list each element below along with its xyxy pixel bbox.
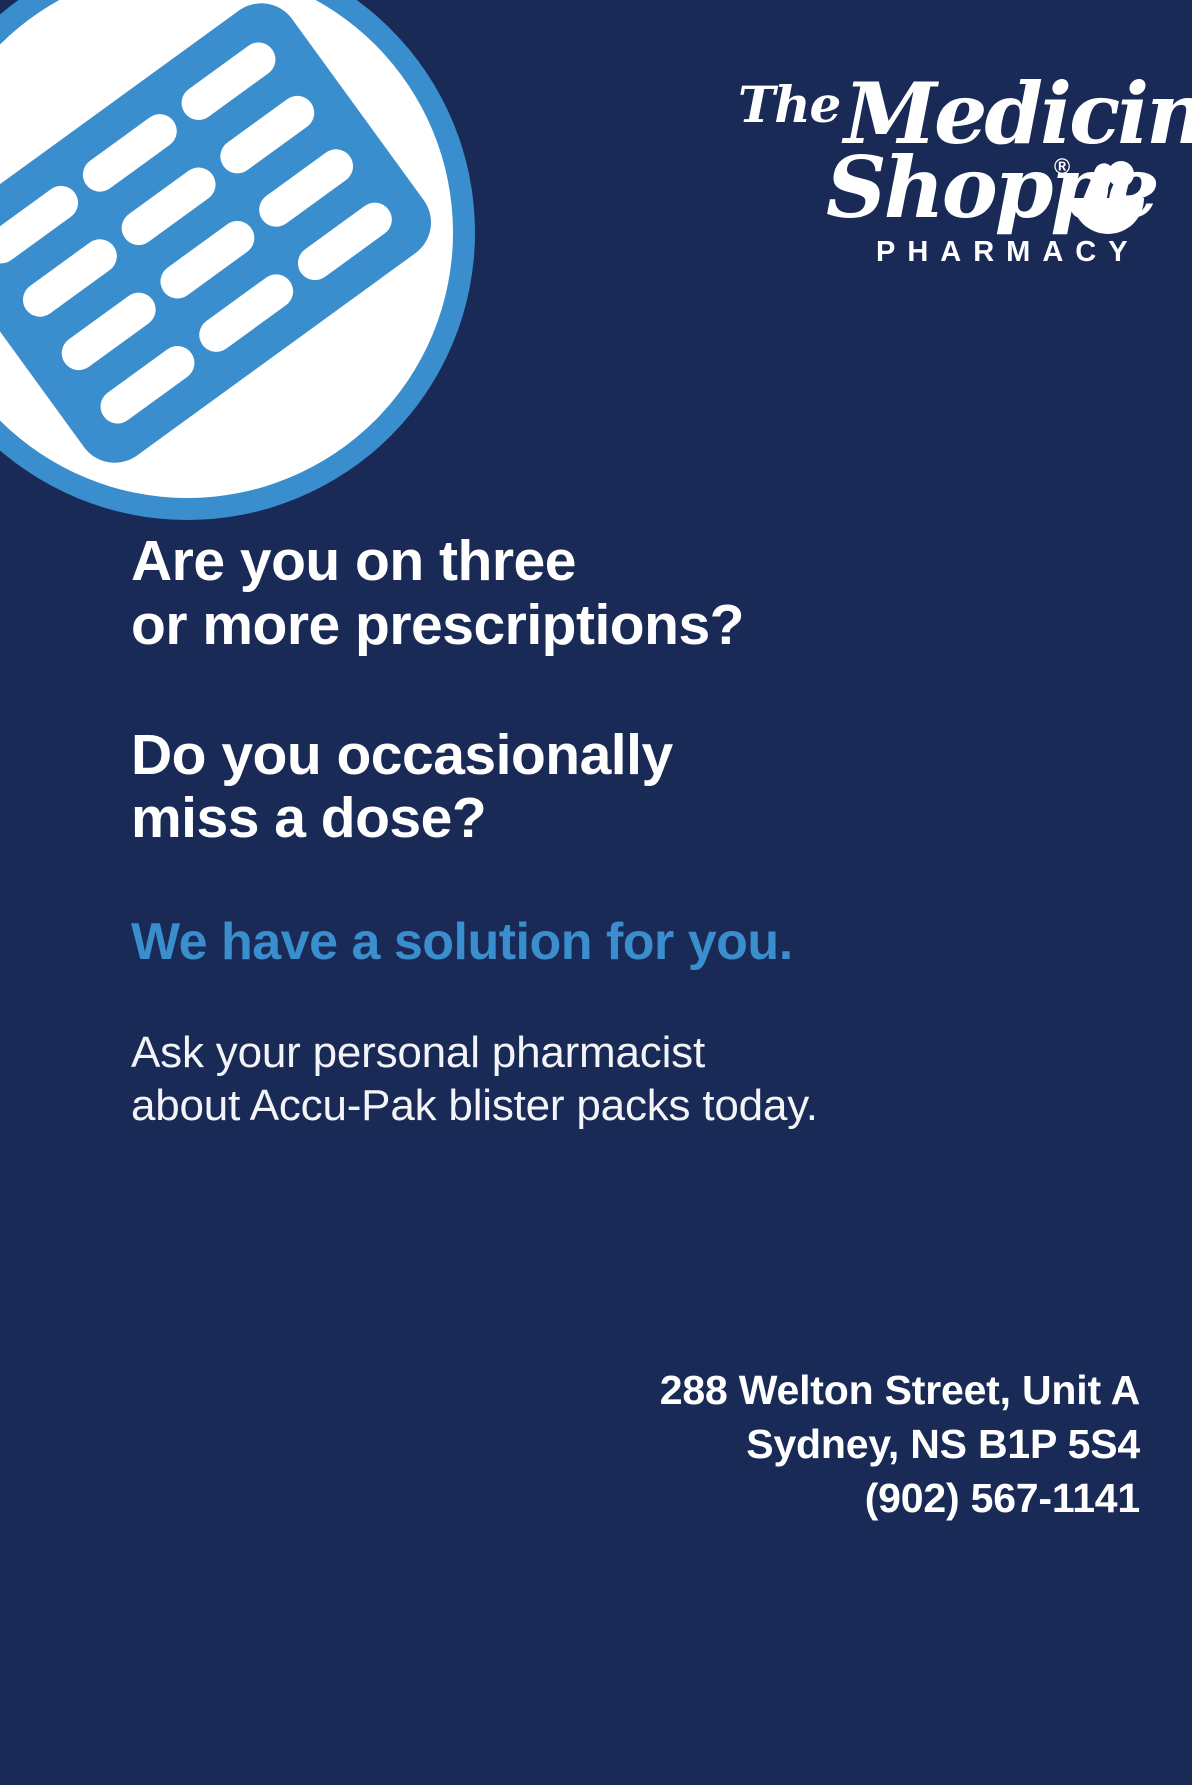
blister-pack-icon (0, 0, 446, 477)
logo-word-pharmacy: PHARMACY (876, 238, 1140, 267)
poster-canvas: The Medicine Shoppe ® PHARMACY Are you o… (0, 0, 1192, 1785)
address-city-postal: Sydney, NS B1P 5S4 (660, 1417, 1140, 1471)
headline-miss-dose: Do you occasionally miss a dose? (131, 724, 1140, 852)
registered-trademark-icon: ® (1054, 156, 1070, 178)
address-phone[interactable]: (902) 567-1141 (660, 1471, 1140, 1525)
pestle-knob-shape (1108, 161, 1134, 187)
blister-pack-badge (0, 0, 475, 520)
address-street: 288 Welton Street, Unit A (660, 1363, 1140, 1417)
logo-word-the: The (738, 80, 840, 130)
headline-prescriptions: Are you on three or more prescriptions? (131, 530, 1140, 658)
accent-solution-line: We have a solution for you. (131, 913, 1140, 971)
address-block: 288 Welton Street, Unit A Sydney, NS B1P… (660, 1363, 1140, 1525)
mortar-and-pestle-icon (1072, 164, 1144, 234)
body-call-to-action: Ask your personal pharmacist about Accu-… (131, 1026, 1140, 1133)
main-copy: Are you on three or more prescriptions? … (131, 530, 1140, 1133)
